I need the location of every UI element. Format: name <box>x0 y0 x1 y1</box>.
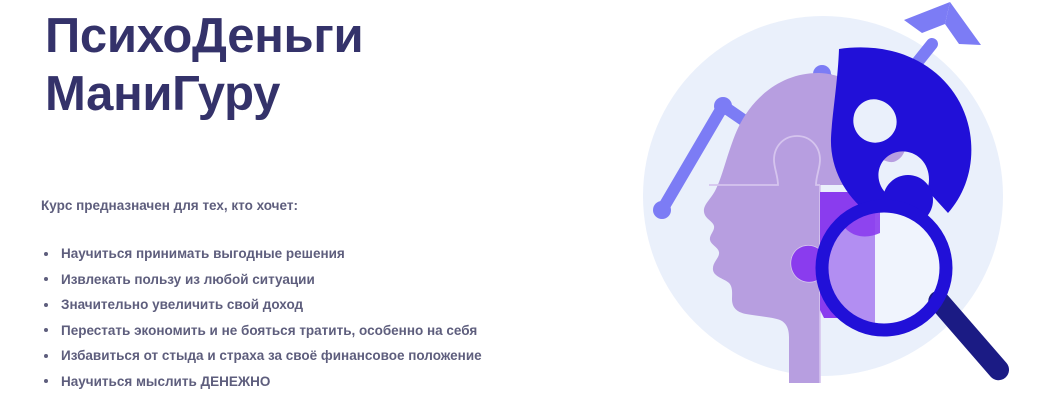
list-item: Извлекать пользу из любой ситуации <box>41 269 482 290</box>
bullet-dot-icon <box>44 379 48 383</box>
head-puzzle-magnifier-growth-illustration <box>632 0 1041 413</box>
list-item-label: Избавиться от стыда и страха за своё фин… <box>61 348 482 363</box>
bullet-dot-icon <box>44 328 48 332</box>
page-title: ПсихоДеньги МаниГуру <box>45 7 605 123</box>
list-item-label: Значительно увеличить свой доход <box>61 297 303 312</box>
illustration-svg <box>632 0 1041 413</box>
list-item-label: Научиться мыслить ДЕНЕЖНО <box>61 374 270 389</box>
list-item: Избавиться от стыда и страха за своё фин… <box>41 345 482 366</box>
bullet-dot-icon <box>44 277 48 281</box>
bullet-dot-icon <box>44 354 48 358</box>
bullet-dot-icon <box>44 252 48 256</box>
list-item: Научиться принимать выгодные решения <box>41 243 482 264</box>
list-item-label: Научиться принимать выгодные решения <box>61 246 345 261</box>
list-item-label: Извлекать пользу из любой ситуации <box>61 272 315 287</box>
benefits-list: Научиться принимать выгодные решения Изв… <box>41 243 482 397</box>
intro-line: Курс предназначен для тех, кто хочет: <box>41 196 298 216</box>
chart-point-dot <box>653 201 671 219</box>
arrow-head-icon <box>945 2 981 45</box>
list-item: Значительно увеличить свой доход <box>41 294 482 315</box>
arrow-head-icon <box>904 2 950 33</box>
bullet-dot-icon <box>44 303 48 307</box>
hero-section: ПсихоДеньги МаниГуру Курс предназначен д… <box>0 0 1041 413</box>
list-item-label: Перестать экономить и не бояться тратить… <box>61 323 477 338</box>
list-item: Перестать экономить и не бояться тратить… <box>41 320 482 341</box>
list-item: Научиться мыслить ДЕНЕЖНО <box>41 371 482 392</box>
hero-text-column: ПсихоДеньги МаниГуру Курс предназначен д… <box>0 0 640 413</box>
chart-point-dot <box>714 97 732 115</box>
